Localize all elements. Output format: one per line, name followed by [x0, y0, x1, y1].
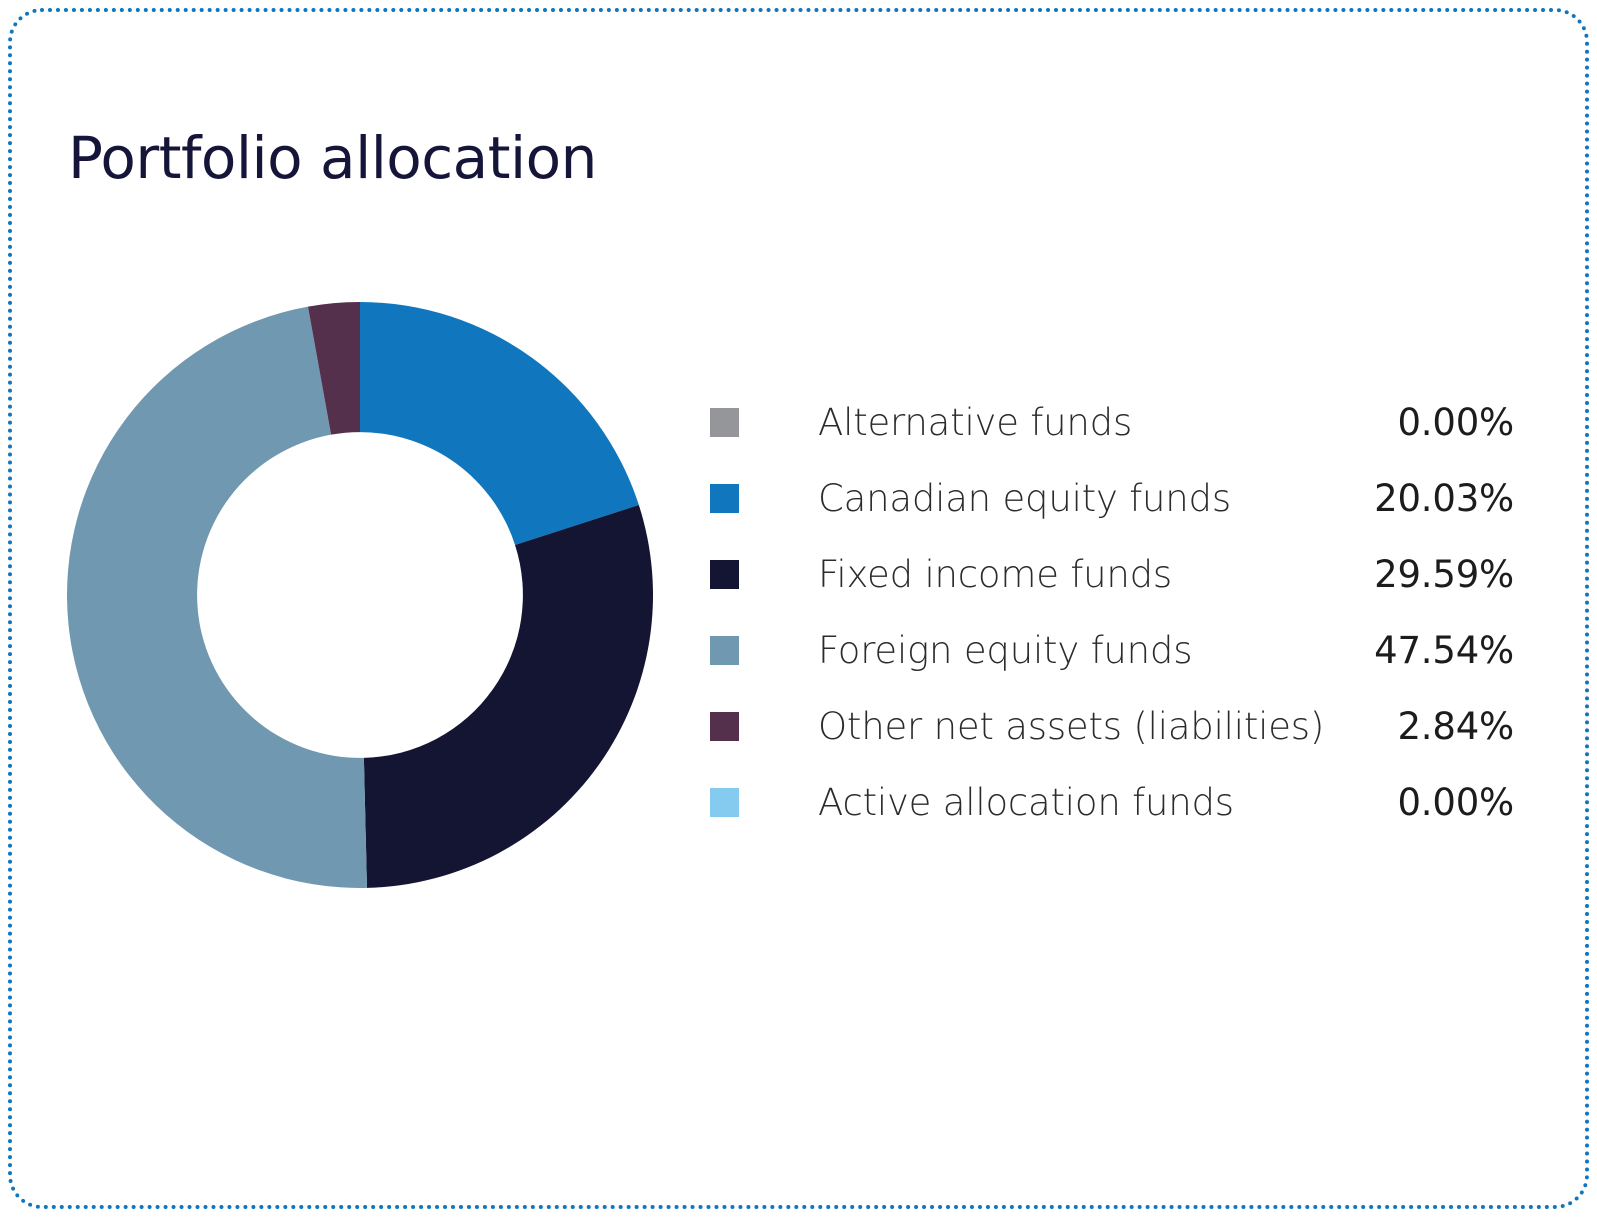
legend-label: Active allocation funds [818, 781, 1344, 824]
donut-slice[interactable] [67, 307, 367, 888]
legend-swatch-icon [710, 560, 739, 589]
legend-row[interactable]: Active allocation funds0.00% [710, 764, 1514, 840]
legend-value: 2.84% [1344, 705, 1514, 748]
legend-label: Canadian equity funds [818, 477, 1344, 520]
portfolio-allocation-card: Portfolio allocation Alternative funds0.… [8, 8, 1589, 1209]
legend-value: 47.54% [1344, 629, 1514, 672]
legend-swatch-icon [710, 788, 739, 817]
legend-value: 20.03% [1344, 477, 1514, 520]
legend-label: Foreign equity funds [818, 629, 1344, 672]
legend-row[interactable]: Fixed income funds29.59% [710, 536, 1514, 612]
legend-value: 29.59% [1344, 553, 1514, 596]
legend-label: Fixed income funds [818, 553, 1344, 596]
legend-value: 0.00% [1344, 781, 1514, 824]
legend-value: 0.00% [1344, 401, 1514, 444]
legend-row[interactable]: Canadian equity funds20.03% [710, 460, 1514, 536]
legend-swatch-icon [710, 636, 739, 665]
legend-label: Alternative funds [818, 401, 1344, 444]
donut-chart [65, 300, 655, 890]
donut-slice[interactable] [364, 505, 653, 888]
legend-swatch-icon [710, 712, 739, 741]
chart-legend: Alternative funds0.00%Canadian equity fu… [710, 384, 1514, 840]
donut-chart-svg [65, 300, 655, 890]
legend-swatch-icon [710, 408, 739, 437]
page-title: Portfolio allocation [68, 124, 597, 192]
donut-slice[interactable] [360, 302, 639, 545]
legend-row[interactable]: Foreign equity funds47.54% [710, 612, 1514, 688]
legend-label: Other net assets (liabilities) [818, 705, 1344, 748]
legend-row[interactable]: Other net assets (liabilities)2.84% [710, 688, 1514, 764]
legend-row[interactable]: Alternative funds0.00% [710, 384, 1514, 460]
legend-swatch-icon [710, 484, 739, 513]
